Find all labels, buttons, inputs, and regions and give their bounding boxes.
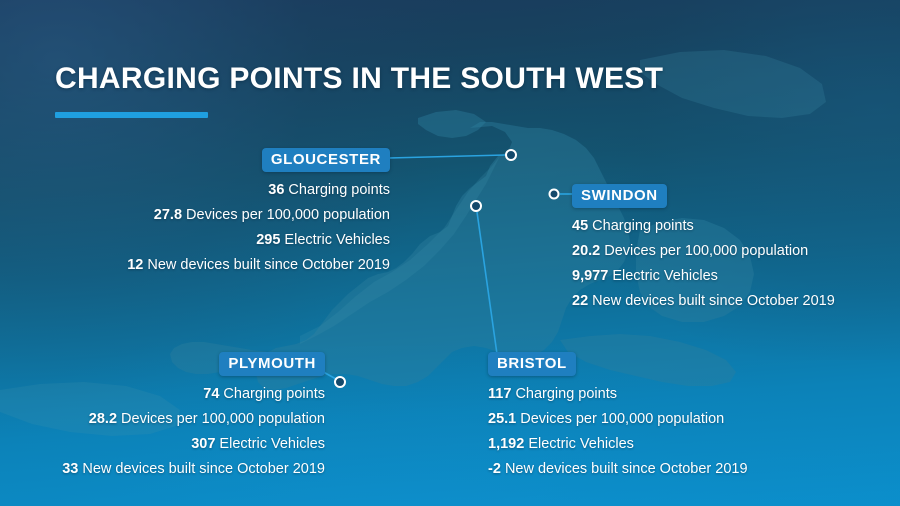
stat-value: 27.8 xyxy=(154,207,182,223)
stat-label: Charging points xyxy=(288,182,390,198)
stat-devices-per-population: 25.1 Devices per 100,000 population xyxy=(488,407,818,432)
stat-charging-points: 45 Charging points xyxy=(572,214,900,239)
stat-electric-vehicles: 307 Electric Vehicles xyxy=(20,432,325,457)
stat-value: 25.1 xyxy=(488,411,516,427)
city-badge-gloucester[interactable]: GLOUCESTER xyxy=(262,148,390,172)
map-marker-gloucester-fill xyxy=(506,150,516,160)
connector-line-bristol xyxy=(477,212,497,354)
stat-value: 36 xyxy=(268,182,284,198)
page-title: CHARGING POINTS IN THE SOUTH WEST xyxy=(55,62,663,96)
stat-value: 12 xyxy=(127,257,143,273)
stat-new-devices: -2 New devices built since October 2019 xyxy=(488,457,818,482)
city-stats-bristol: 117 Charging points 25.1 Devices per 100… xyxy=(488,382,818,482)
stat-value: 74 xyxy=(203,386,219,402)
stat-label: Charging points xyxy=(592,218,694,234)
city-stats-swindon: 45 Charging points 20.2 Devices per 100,… xyxy=(572,214,900,314)
stat-value: 28.2 xyxy=(89,411,117,427)
stat-new-devices: 22 New devices built since October 2019 xyxy=(572,289,900,314)
stat-value: 307 xyxy=(191,436,215,452)
stat-label: Electric Vehicles xyxy=(528,436,634,452)
stat-value: 22 xyxy=(572,293,588,309)
title-block: CHARGING POINTS IN THE SOUTH WEST xyxy=(55,62,663,118)
stat-charging-points: 74 Charging points xyxy=(20,382,325,407)
stat-label: Devices per 100,000 population xyxy=(121,411,325,427)
stat-devices-per-population: 20.2 Devices per 100,000 population xyxy=(572,239,900,264)
map-marker-plymouth-fill xyxy=(335,377,345,387)
connector-line-gloucester xyxy=(389,155,505,158)
stat-label: Electric Vehicles xyxy=(612,268,718,284)
city-badge-plymouth[interactable]: PLYMOUTH xyxy=(219,352,325,376)
map-marker-plymouth xyxy=(335,377,345,387)
stat-charging-points: 117 Charging points xyxy=(488,382,818,407)
stat-label: Electric Vehicles xyxy=(219,436,325,452)
stat-value: 9,977 xyxy=(572,268,608,284)
stat-label: Devices per 100,000 population xyxy=(604,243,808,259)
stat-label: Electric Vehicles xyxy=(284,232,390,248)
title-accent-bar xyxy=(55,112,208,118)
map-marker-bristol xyxy=(471,201,481,211)
stat-value: 295 xyxy=(256,232,280,248)
stat-charging-points: 36 Charging points xyxy=(40,178,390,203)
map-marker-bristol-fill xyxy=(471,201,481,211)
stat-electric-vehicles: 9,977 Electric Vehicles xyxy=(572,264,900,289)
map-marker-gloucester xyxy=(506,150,516,160)
city-stats-gloucester: 36 Charging points 27.8 Devices per 100,… xyxy=(40,178,390,278)
city-block-gloucester: GLOUCESTER 36 Charging points 27.8 Devic… xyxy=(40,148,390,278)
city-block-bristol: BRISTOL 117 Charging points 25.1 Devices… xyxy=(488,352,818,482)
stat-value: 33 xyxy=(62,461,78,477)
stat-value: 1,192 xyxy=(488,436,524,452)
infographic-canvas: CHARGING POINTS IN THE SOUTH WEST GLOUCE… xyxy=(0,0,900,506)
city-badge-bristol[interactable]: BRISTOL xyxy=(488,352,576,376)
stat-value: -2 xyxy=(488,461,501,477)
stat-label: New devices built since October 2019 xyxy=(82,461,325,477)
stat-label: Devices per 100,000 population xyxy=(186,207,390,223)
city-block-plymouth: PLYMOUTH 74 Charging points 28.2 Devices… xyxy=(20,352,325,482)
city-stats-plymouth: 74 Charging points 28.2 Devices per 100,… xyxy=(20,382,325,482)
stat-label: New devices built since October 2019 xyxy=(147,257,390,273)
stat-label: Charging points xyxy=(515,386,617,402)
stat-value: 45 xyxy=(572,218,588,234)
stat-value: 20.2 xyxy=(572,243,600,259)
city-block-swindon: SWINDON 45 Charging points 20.2 Devices … xyxy=(572,184,900,314)
map-marker-swindon-fill xyxy=(550,190,559,199)
city-badge-swindon[interactable]: SWINDON xyxy=(572,184,667,208)
stat-label: New devices built since October 2019 xyxy=(592,293,835,309)
stat-label: New devices built since October 2019 xyxy=(505,461,748,477)
stat-devices-per-population: 27.8 Devices per 100,000 population xyxy=(40,203,390,228)
stat-new-devices: 33 New devices built since October 2019 xyxy=(20,457,325,482)
map-marker-swindon xyxy=(550,190,559,199)
landmass-north-wisp-shape xyxy=(640,50,826,118)
stat-label: Charging points xyxy=(223,386,325,402)
stat-value: 117 xyxy=(488,386,511,402)
stat-new-devices: 12 New devices built since October 2019 xyxy=(40,253,390,278)
stat-label: Devices per 100,000 population xyxy=(520,411,724,427)
stat-devices-per-population: 28.2 Devices per 100,000 population xyxy=(20,407,325,432)
stat-electric-vehicles: 295 Electric Vehicles xyxy=(40,228,390,253)
stat-electric-vehicles: 1,192 Electric Vehicles xyxy=(488,432,818,457)
